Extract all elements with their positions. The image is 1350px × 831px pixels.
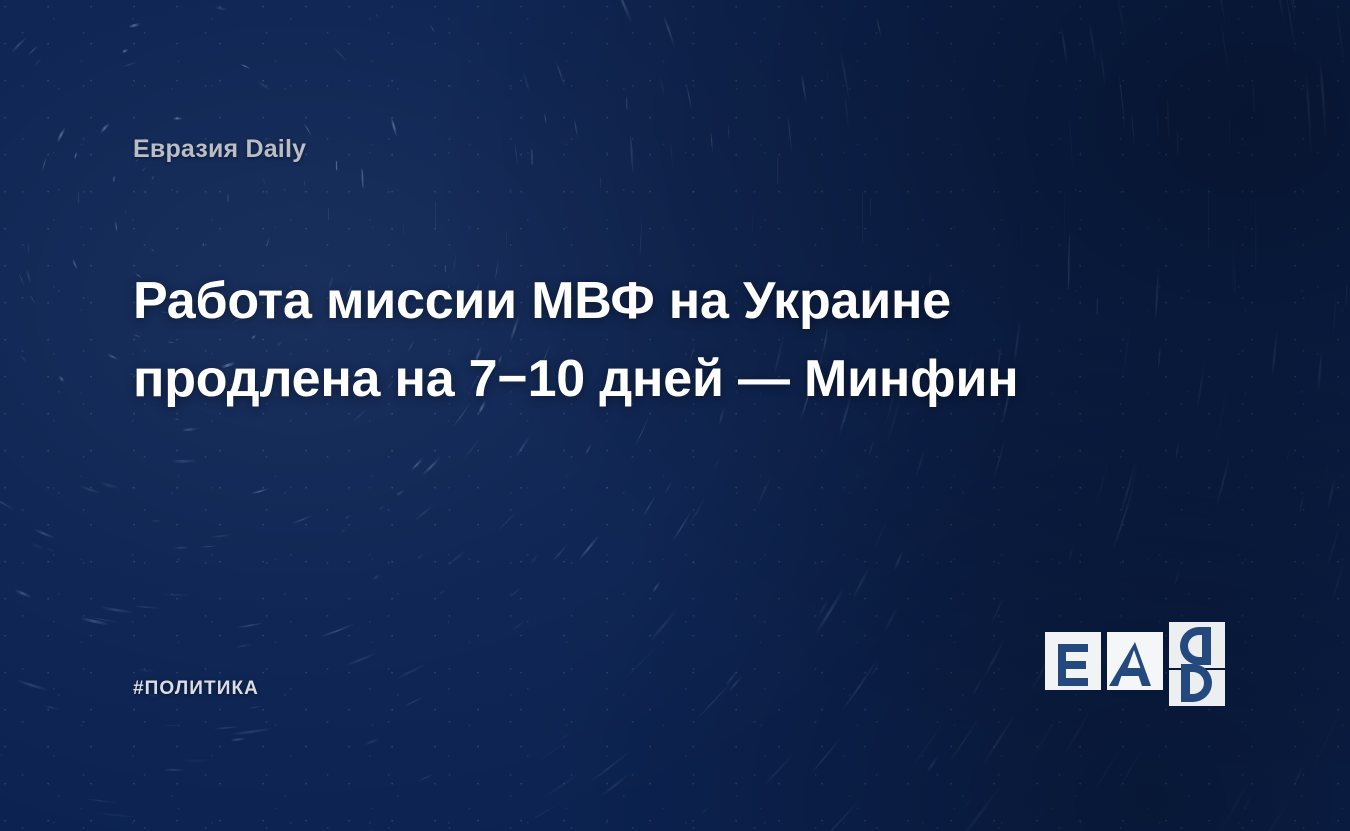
headline-line-2: продлена на 7−10 дней — Минфин [133,340,1093,418]
category-hashtag[interactable]: #ПОЛИТИКА [133,678,259,700]
headline-line-1: Работа миссии МВФ на Украине [133,262,1093,340]
eadaily-logo[interactable] [1043,606,1233,708]
article-share-card: Евразия Daily Работа миссии МВФ на Украи… [0,0,1350,831]
brand-label: Евразия Daily [133,135,306,164]
page-title: Работа миссии МВФ на Украине продлена на… [133,262,1093,418]
